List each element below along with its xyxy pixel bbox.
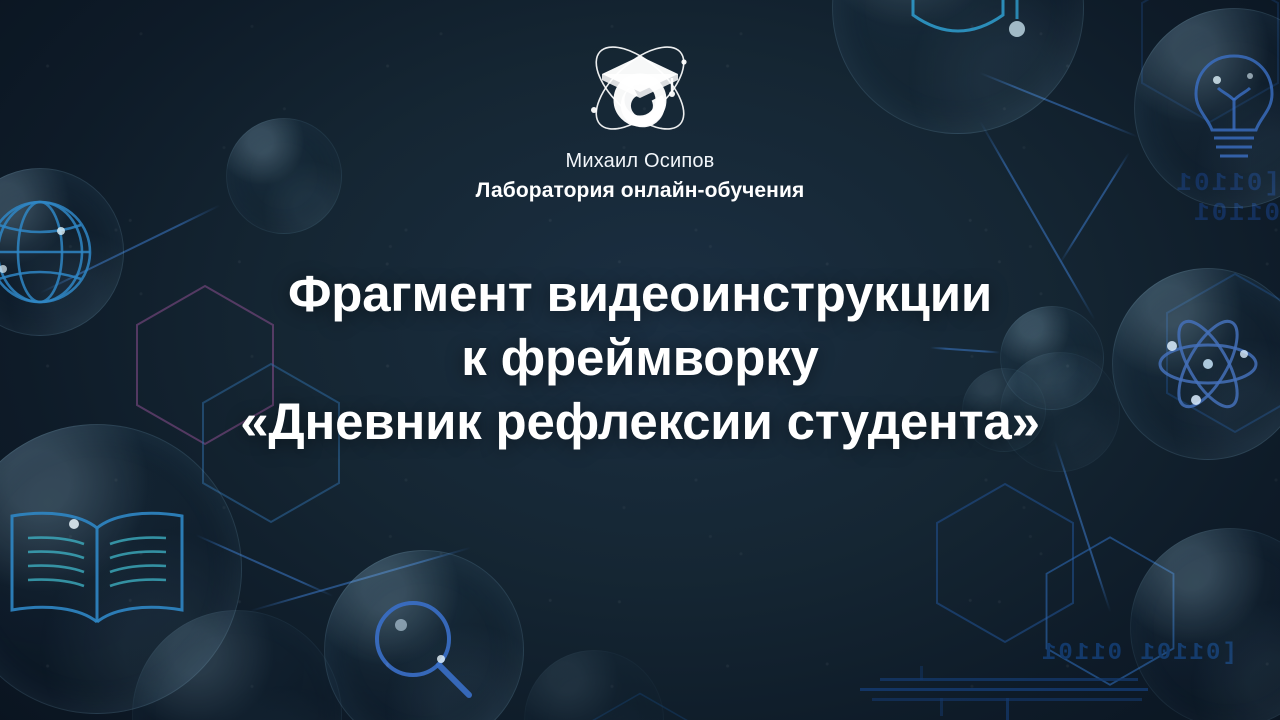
brand-name: Михаил Осипов [565, 150, 714, 172]
brand-subtitle: Лаборатория онлайн-обучения [476, 179, 805, 202]
magnifier-icon [325, 551, 523, 720]
bubble-magnifier [324, 550, 524, 720]
circuit-lines-decoration [860, 672, 1160, 712]
brand-header: Михаил Осипов Лаборатория онлайн-обучени… [0, 34, 1280, 202]
slide-title: Фрагмент видеоинструкции к фреймворку «Д… [0, 262, 1280, 454]
title-line-3: «Дневник рефлексии студента» [0, 390, 1280, 454]
atom-graduation-cap-logo-icon [578, 34, 702, 138]
title-line-1: Фрагмент видеоинструкции [0, 262, 1280, 326]
presentation-slide: [01101 01101 [01101 01101 [0, 0, 1280, 720]
bubble-plain [524, 650, 664, 720]
title-line-2: к фреймворку [0, 326, 1280, 390]
